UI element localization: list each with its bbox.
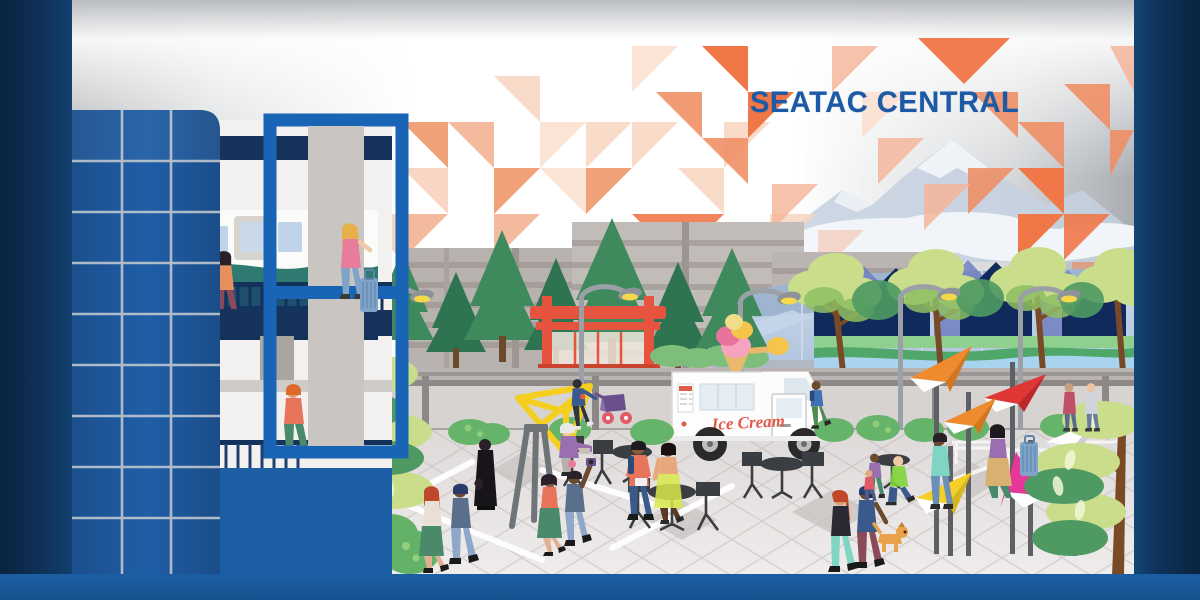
glass-office-tower [72, 110, 220, 576]
torii-shelter [530, 296, 666, 368]
frame-left-border [0, 0, 72, 600]
ice-cream-sign-text: Ice Cream [710, 411, 785, 434]
frame-right-border [1134, 0, 1200, 600]
rendering-canvas: Ice Cream [0, 0, 1200, 600]
frame-bottom-band [0, 574, 1200, 600]
page-title: SEATAC CENTRAL [750, 86, 1019, 120]
menu-board [678, 384, 693, 412]
left-building-complex [72, 110, 402, 576]
